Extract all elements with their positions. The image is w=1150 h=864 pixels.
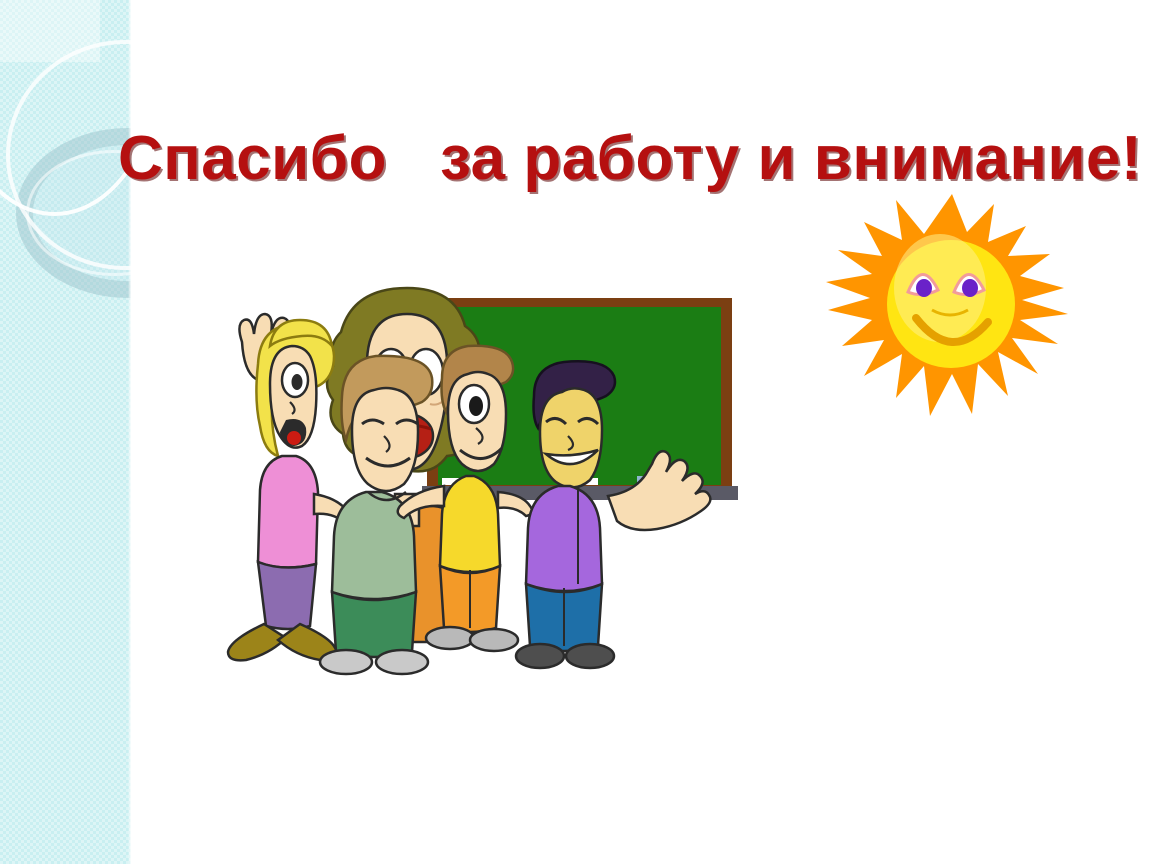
page-title: Спасибо за работу и внимание! <box>118 126 1118 191</box>
sun-svg <box>812 192 1092 420</box>
boy-purple-shirt <box>526 486 602 591</box>
sun-pupil-right <box>962 279 978 297</box>
boy-sandy-shoe-left <box>320 650 372 674</box>
girl-shirt <box>258 456 318 568</box>
boy-yellow-shoe-left <box>426 627 474 649</box>
sun-pupil-left <box>916 279 932 297</box>
classroom-illustration <box>190 280 760 700</box>
sidebar-top-rectangle <box>0 0 100 62</box>
decorative-sidebar <box>0 0 131 864</box>
boy-purple-shoe-right <box>566 644 614 668</box>
girl-pupil <box>292 374 303 390</box>
boy-yellow-shoe-right <box>470 629 518 651</box>
boy-sandy-face <box>352 388 418 491</box>
boy-yellow-pupil <box>469 396 483 416</box>
slide-canvas: Спасибо за работу и внимание! <box>0 0 1150 864</box>
girl-pants <box>258 562 316 629</box>
boy-sandy-shoe-right <box>376 650 428 674</box>
boy-purple-shoe-left <box>516 644 564 668</box>
classroom-svg <box>190 280 760 700</box>
boy-yellow-shirt <box>440 476 500 572</box>
sidebar-texture <box>0 0 131 864</box>
girl-tongue <box>287 431 301 445</box>
smiling-sun-illustration <box>812 192 1092 420</box>
boy-sandy-pants <box>332 592 416 657</box>
